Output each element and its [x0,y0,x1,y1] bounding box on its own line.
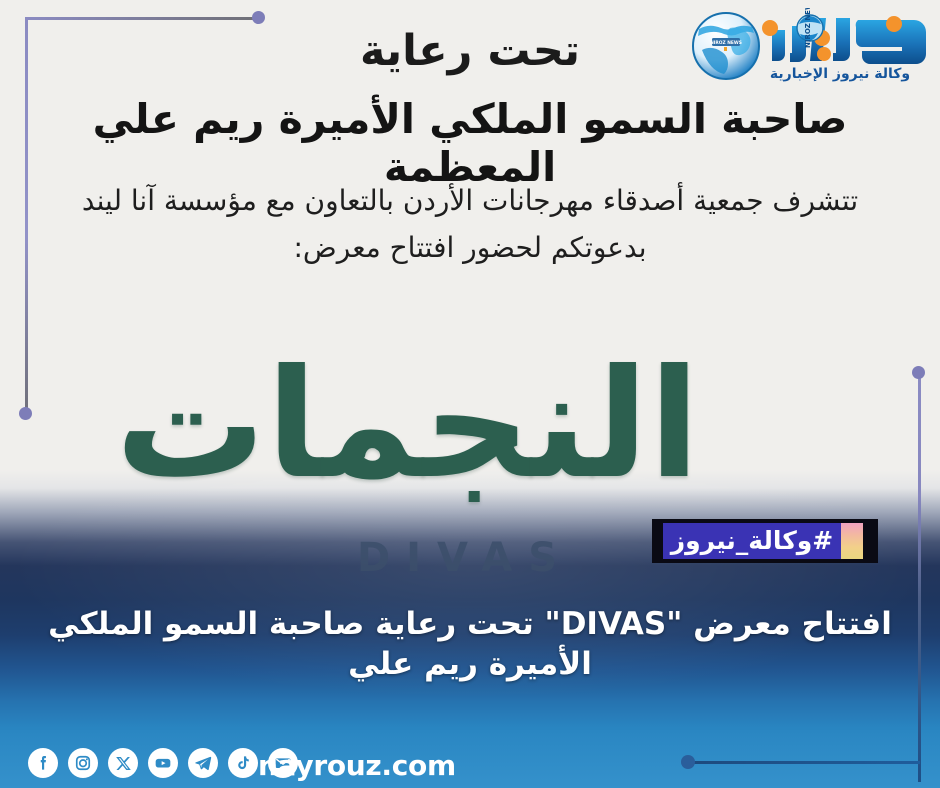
bracket-dot-bottom-left [19,407,32,420]
patronage-label: تحت رعاية [0,26,940,76]
news-poster: NIROZ NEWS [0,0,940,788]
instagram-icon[interactable] [68,748,98,778]
bracket-right-vertical [918,372,921,782]
tiktok-icon[interactable] [228,748,258,778]
bracket-bottom-horizontal [690,761,920,764]
headline: افتتاح معرض "DIVAS" تحت رعاية صاحبة السم… [18,604,922,684]
badge-gradient-strip [841,523,863,559]
exhibition-logo: النجمات DIVAS [230,285,700,605]
hashtag-label: #وكالة_نيروز [663,523,841,559]
hashtag-badge[interactable]: #وكالة_نيروز [652,519,878,563]
youtube-icon[interactable] [148,748,178,778]
invitation-line-1: تتشرف جمعية أصدقاء مهرجانات الأردن بالتع… [0,184,940,217]
bracket-dot-bottom-right [681,755,695,769]
patron-name: صاحبة السمو الملكي الأميرة ريم علي المعظ… [0,95,940,191]
bracket-top-horizontal [25,17,260,20]
exhibition-calligraphy-arabic: النجمات [230,285,700,565]
website-url[interactable]: nayrouz.com [258,749,456,782]
invitation-line-2: بدعوتكم لحضور افتتاح معرض: [0,231,940,264]
exhibition-name-latin: DIVAS [230,535,700,581]
bracket-dot-right-top [912,366,925,379]
bracket-dot-top-right [252,11,265,24]
x-twitter-icon[interactable] [108,748,138,778]
bracket-top-vertical [25,17,28,417]
telegram-icon[interactable] [188,748,218,778]
facebook-icon[interactable] [28,748,58,778]
